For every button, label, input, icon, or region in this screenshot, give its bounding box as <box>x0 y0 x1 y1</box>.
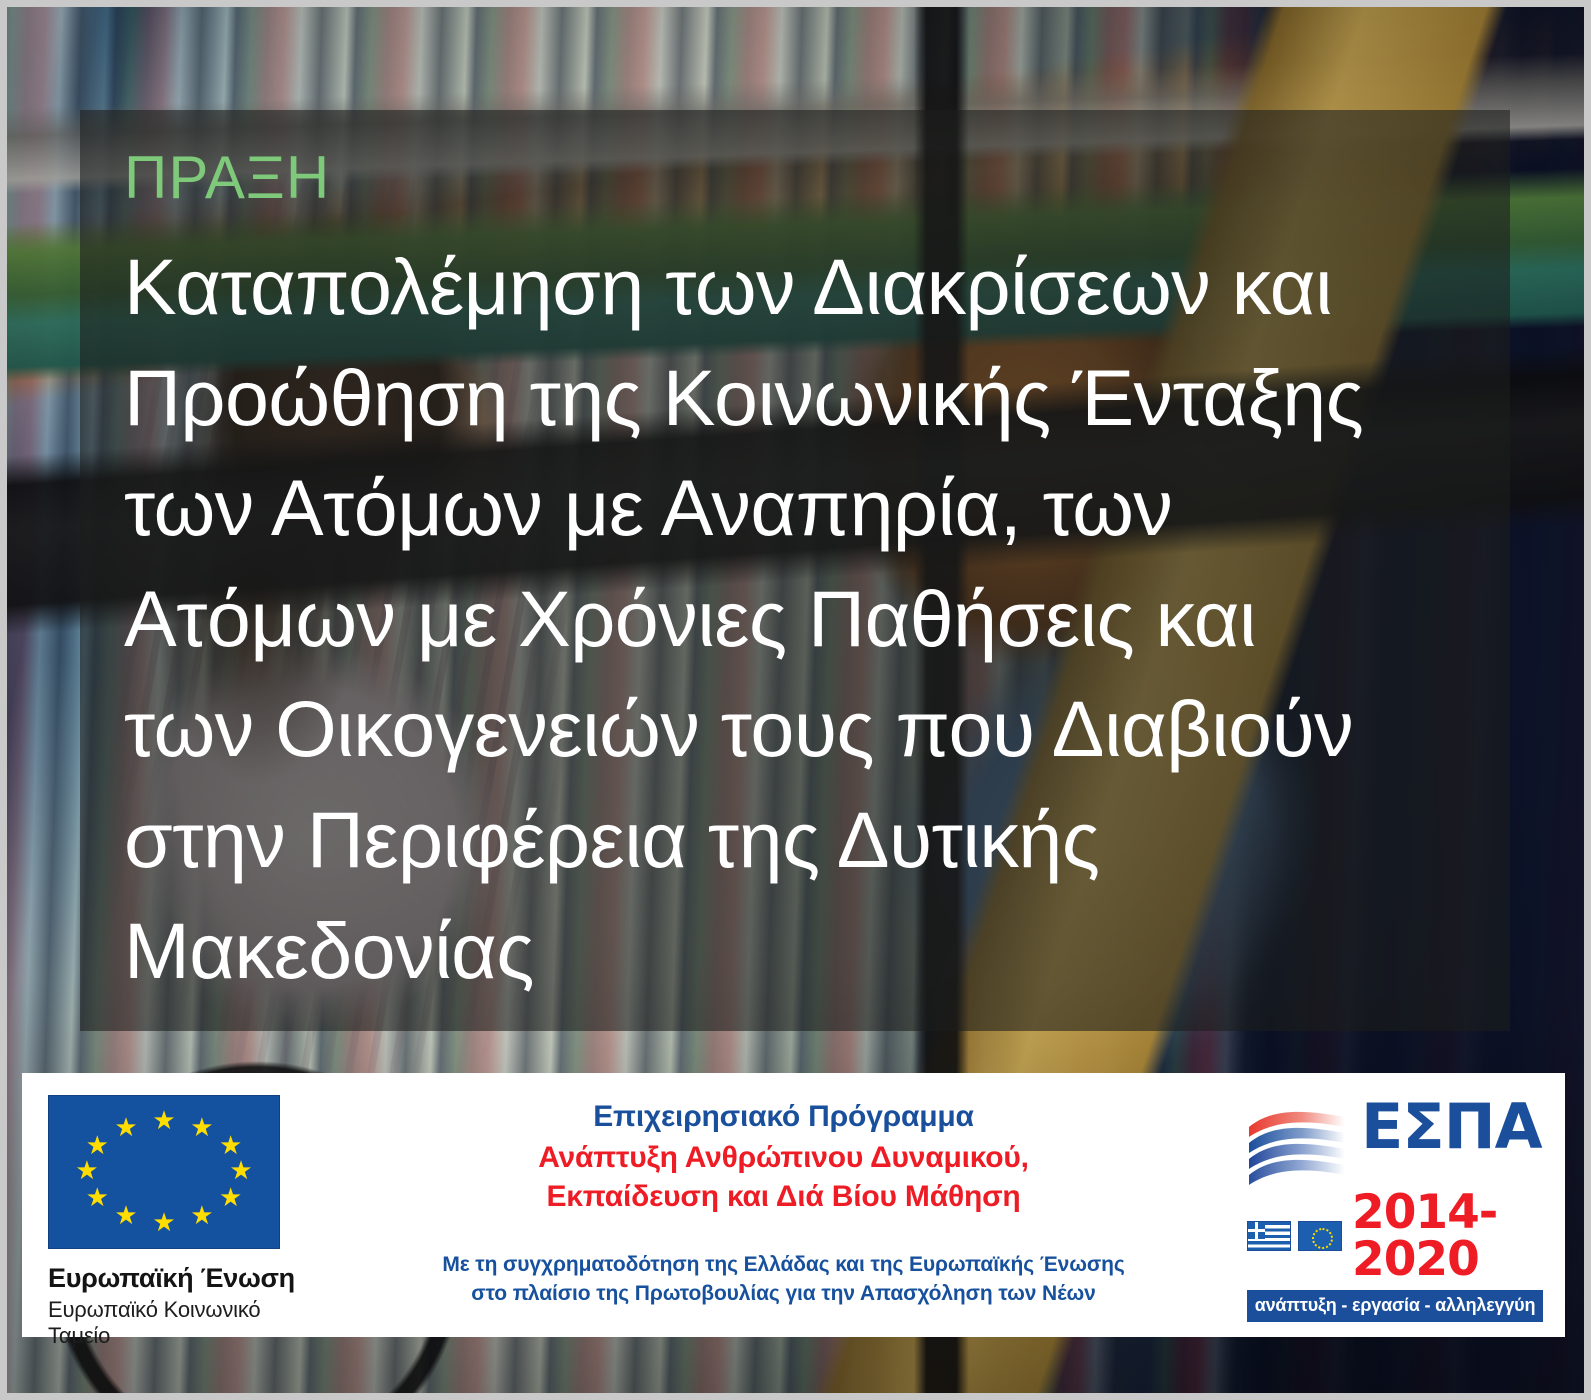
poster-canvas: ΠΡΑΞΗ Καταπολέμηση των Διακρίσεων και Πρ… <box>0 0 1591 1400</box>
headline-line-5: των Οικογενειών τους που Διαβιούν <box>124 674 1466 785</box>
espa-logo-mid-row: 2014-2020 <box>1245 1189 1543 1283</box>
funding-banner: Ευρωπαϊκή Ένωση Ευρωπαϊκό Κοινωνικό Ταμε… <box>22 1073 1565 1337</box>
cofunding-statement: Με τη συγχρηματοδότηση της Ελλάδας και τ… <box>322 1250 1245 1309</box>
page-title: Καταπολέμηση των Διακρίσεων και Προώθηση… <box>124 232 1466 1006</box>
headline-line-7: Μακεδονίας <box>124 896 1466 1007</box>
cofunding-line-2: στο πλαίσιο της Πρωτοβουλίας για την Απα… <box>322 1279 1245 1308</box>
programme-title-label: Επιχειρησιακό Πρόγραμμα <box>322 1099 1245 1136</box>
greek-flag-icon <box>1247 1221 1291 1251</box>
eu-emblem-block: Ευρωπαϊκή Ένωση Ευρωπαϊκό Κοινωνικό Ταμε… <box>22 1073 322 1337</box>
operational-programme-block: Επιχειρησιακό Πρόγραμμα Ανάπτυξη Ανθρώπι… <box>322 1073 1245 1337</box>
headline-line-4: Ατόμων με Χρόνιες Παθήσεις και <box>124 564 1466 675</box>
greek-flag-cross-horizontal <box>1248 1229 1265 1232</box>
headline-line-3: των Ατόμων με Αναπηρία, των <box>124 453 1466 564</box>
eu-title-label: Ευρωπαϊκή Ένωση <box>48 1263 322 1294</box>
headline-line-1: Καταπολέμηση των Διακρίσεων και <box>124 232 1466 343</box>
headline-line-6: στην Περιφέρεια της Δυτικής <box>124 785 1466 896</box>
espa-waves-icon <box>1245 1103 1349 1187</box>
eu-flag-small-icon <box>1298 1221 1342 1251</box>
cofunding-line-1: Με τη συγχρηματοδότηση της Ελλάδας και τ… <box>322 1250 1245 1279</box>
espa-flag-pair <box>1247 1221 1342 1251</box>
eu-flag-small-star-ring <box>1312 1228 1333 1249</box>
espa-logo-block: ΕΣΠΑ 2014-2020 ανάπτυξη - εργασία - αλλη… <box>1245 1073 1565 1337</box>
programme-name-label: Ανάπτυξη Ανθρώπινου Δυναμικού, Εκπαίδευσ… <box>322 1138 1245 1216</box>
espa-years-label: 2014-2020 <box>1352 1189 1543 1283</box>
espa-wordmark: ΕΣΠΑ <box>1361 1097 1542 1157</box>
headline-line-2: Προώθηση της Κοινωνικής Ένταξης <box>124 343 1466 454</box>
headline-overlay-panel: ΠΡΑΞΗ Καταπολέμηση των Διακρίσεων και Πρ… <box>80 110 1510 1031</box>
espa-logo-top-row: ΕΣΠΑ <box>1245 1097 1543 1187</box>
eu-subtitle-label: Ευρωπαϊκό Κοινωνικό Ταμείο <box>48 1297 322 1349</box>
european-union-flag-icon <box>48 1095 280 1249</box>
kicker-label: ΠΡΑΞΗ <box>124 148 1466 208</box>
programme-name-line-2: Εκπαίδευση και Διά Βίου Μάθηση <box>322 1177 1245 1216</box>
programme-name-line-1: Ανάπτυξη Ανθρώπινου Δυναμικού, <box>322 1138 1245 1177</box>
espa-tagline-label: ανάπτυξη - εργασία - αλληλεγγύη <box>1247 1290 1543 1322</box>
